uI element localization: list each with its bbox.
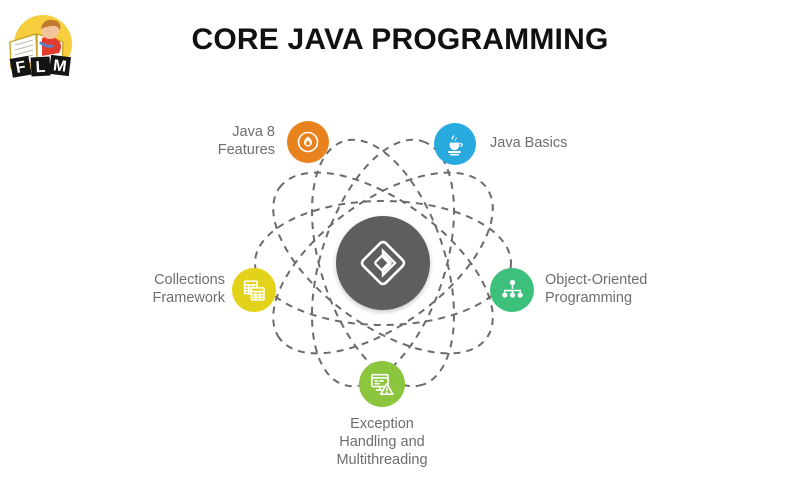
- node-java-basics[interactable]: [434, 123, 476, 165]
- label-java-basics: Java Basics: [490, 134, 630, 152]
- node-collections-framework[interactable]: [232, 268, 276, 312]
- node-object-oriented-programming[interactable]: [490, 268, 534, 312]
- core-java-hub[interactable]: [336, 216, 430, 310]
- core-java-topics-diagram: Java 8 Features Java Basics: [0, 95, 800, 500]
- node-exception-handling-multithreading[interactable]: [359, 361, 405, 407]
- page-title: CORE JAVA PROGRAMMING: [0, 23, 800, 57]
- label-exception-handling-multithreading: Exception Handling and Multithreading: [282, 415, 482, 469]
- page-header: F L M CORE JAVA PROGRAMMING: [0, 0, 800, 95]
- svg-text:L: L: [35, 59, 46, 77]
- svg-text:M: M: [52, 57, 67, 75]
- logo-letter-tiles: F L M: [10, 55, 71, 78]
- java-cup-icon: [443, 132, 468, 157]
- code-marks: [374, 380, 384, 384]
- table-documents-icon: [242, 278, 267, 303]
- flame-circle-icon: [296, 130, 320, 154]
- monitor-warning-icon: [369, 371, 395, 397]
- label-java-8-features: Java 8 Features: [180, 123, 275, 159]
- label-object-oriented-programming: Object-Oriented Programming: [545, 271, 705, 307]
- hierarchy-tree-icon: [500, 278, 525, 303]
- label-collections-framework: Collections Framework: [110, 271, 225, 307]
- node-java-8-features[interactable]: [287, 121, 329, 163]
- diamond-outline-icon: [358, 238, 408, 288]
